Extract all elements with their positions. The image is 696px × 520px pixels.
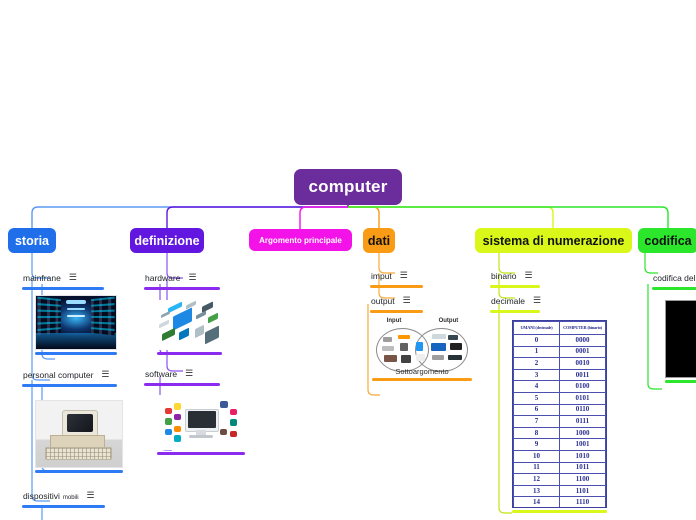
cell-binary: 1000 (560, 427, 606, 439)
topic-decimale[interactable]: decimale ☰ (490, 291, 542, 313)
image-underline (35, 352, 117, 355)
cell-binary: 0100 (560, 381, 606, 393)
hamburger-icon[interactable]: ☰ (87, 491, 95, 500)
cell-binary: 0000 (560, 335, 606, 347)
cell-decimal: 5 (514, 392, 560, 404)
image-card-software[interactable] (157, 395, 245, 455)
cell-decimal: 11 (514, 462, 560, 474)
venn-right-label: Output (439, 318, 459, 324)
topic-personal-computer-row[interactable]: personal computer ☰ (22, 370, 110, 382)
ceiling-light (66, 300, 85, 304)
branch-label-dati: dati (368, 234, 390, 248)
topic-codifica-del-label: codifica del (653, 273, 696, 283)
hamburger-icon[interactable]: ☰ (400, 271, 408, 280)
topic-underline (144, 287, 220, 290)
branch-node-sistema-di-numerazione[interactable]: sistema di numerazione (475, 228, 632, 253)
cell-binary: 1010 (560, 450, 606, 462)
table-row: 00000 (514, 335, 606, 347)
cell-binary: 0101 (560, 392, 606, 404)
input-output-venn-diagram[interactable]: Input Output Sottoargomento (372, 316, 472, 378)
image-underline (35, 470, 123, 473)
black-image-placeholder[interactable] (665, 300, 696, 378)
branch-label-codifica: codifica (644, 234, 691, 248)
table-row: 10001 (514, 346, 606, 358)
hamburger-icon[interactable]: ☰ (403, 296, 411, 305)
hamburger-icon[interactable]: ☰ (69, 273, 77, 282)
topic-personal-computer-label: personal computer (23, 370, 93, 380)
topic-output[interactable]: output ☰ (370, 291, 423, 313)
table-body: 0000010001200103001140100501016011070111… (514, 335, 606, 509)
topic-underline (490, 310, 540, 313)
topic-codifica-del[interactable]: codifica del ☰ (652, 268, 696, 290)
topic-binario-row[interactable]: binario ☰ (490, 271, 534, 283)
topic-software-row[interactable]: software ☰ (144, 369, 194, 381)
mindmap-canvas[interactable]: computer storia definizione Argomento pr… (0, 0, 696, 520)
topic-dispositivi-mobili-row[interactable]: dispositivi mobili ☰ (22, 491, 96, 503)
table-row: 91001 (514, 439, 606, 451)
cell-binary: 0001 (560, 346, 606, 358)
root-node-label: computer (308, 177, 387, 197)
venn-left-label: Input (387, 318, 402, 324)
image-underline (372, 378, 472, 381)
image-caption-sottoargomento: Sottoargomento (373, 367, 471, 376)
table-row: 141110 (514, 497, 606, 508)
branch-node-definizione[interactable]: definizione (130, 228, 204, 253)
cell-binary: 0110 (560, 404, 606, 416)
desktop-computer-with-app-icons-illustration[interactable] (157, 395, 245, 450)
image-underline (157, 452, 245, 455)
table-row: 30011 (514, 369, 606, 381)
cell-decimal: 10 (514, 450, 560, 462)
table-header-binario: COMPUTER (binario) (560, 322, 606, 335)
cell-binary: 1011 (560, 462, 606, 474)
table-row: 131101 (514, 485, 606, 497)
table-row: 81000 (514, 427, 606, 439)
topic-mainfrane[interactable]: mainfrane ☰ (22, 268, 104, 290)
topic-dispositivi-mobili[interactable]: dispositivi mobili ☰ (22, 486, 105, 508)
topic-imput[interactable]: imput ☰ (370, 266, 423, 288)
topic-underline (370, 285, 423, 288)
table-row: 101010 (514, 450, 606, 462)
branch-label-sistema-di-numerazione: sistema di numerazione (483, 234, 625, 248)
topic-hardware-label: hardware (145, 273, 180, 283)
cell-decimal: 4 (514, 381, 560, 393)
cell-binary: 1110 (560, 497, 606, 508)
hamburger-icon[interactable]: ☰ (525, 271, 533, 280)
table-row: 50101 (514, 392, 606, 404)
cell-decimal: 9 (514, 439, 560, 451)
table-row: 20010 (514, 358, 606, 370)
topic-output-row[interactable]: output ☰ (370, 296, 412, 308)
branch-node-codifica[interactable]: codifica (638, 228, 696, 253)
topic-decimale-label: decimale (491, 296, 525, 306)
topic-imput-label: imput (371, 271, 392, 281)
topic-underline (22, 287, 104, 290)
image-underline (512, 510, 607, 513)
cell-binary: 0010 (560, 358, 606, 370)
monitor-stand (196, 430, 206, 435)
topic-underline (22, 505, 105, 508)
table-row: 60110 (514, 404, 606, 416)
floor-reflection (36, 333, 116, 349)
table-row: 111011 (514, 462, 606, 474)
cell-decimal: 12 (514, 474, 560, 486)
topic-dispositivi-label: dispositivi (23, 491, 60, 501)
topic-dispositivi-sublabel: mobili (63, 495, 79, 501)
topic-imput-row[interactable]: imput ☰ (370, 271, 409, 283)
topic-codifica-del-row[interactable]: codifica del ☰ (652, 273, 696, 285)
image-underline (665, 380, 696, 383)
cell-decimal: 6 (514, 404, 560, 416)
topic-software[interactable]: software ☰ (144, 364, 220, 386)
topic-hardware[interactable]: hardware ☰ (144, 268, 220, 290)
server-room-photo[interactable] (35, 295, 117, 350)
cell-decimal: 3 (514, 369, 560, 381)
monitor-screen (188, 411, 217, 428)
topic-mainfrane-label: mainfrane (23, 273, 61, 283)
cell-binary: 1001 (560, 439, 606, 451)
cell-decimal: 7 (514, 416, 560, 428)
cell-decimal: 1 (514, 346, 560, 358)
topic-underline (652, 287, 696, 290)
vintage-personal-computer-photo[interactable] (35, 400, 123, 468)
topic-personal-computer[interactable]: personal computer ☰ (22, 365, 117, 387)
cell-decimal: 2 (514, 358, 560, 370)
table-header-decimale: UMANI (decimale) (514, 322, 560, 335)
image-underline (157, 352, 222, 355)
image-card-binary-table[interactable]: UMANI (decimale) COMPUTER (binario) 0000… (512, 320, 607, 513)
topic-binario-label: binario (491, 271, 517, 281)
branch-node-argomento-principale[interactable]: Argomento principale (249, 229, 352, 251)
branch-node-storia[interactable]: storia (8, 228, 56, 253)
hamburger-icon[interactable]: ☰ (533, 296, 541, 305)
cell-binary: 0111 (560, 416, 606, 428)
branch-label-argomento-principale: Argomento principale (259, 236, 342, 245)
keyboard (45, 447, 112, 460)
topic-underline (370, 310, 423, 313)
cell-binary: 1101 (560, 485, 606, 497)
topic-underline (22, 384, 117, 387)
topic-hardware-row[interactable]: hardware ☰ (144, 273, 198, 285)
branch-label-definizione: definizione (134, 234, 199, 248)
table-header-row: UMANI (decimale) COMPUTER (binario) (514, 322, 606, 335)
cell-decimal: 0 (514, 335, 560, 347)
topic-mainfrane-row[interactable]: mainfrane ☰ (22, 273, 78, 285)
cell-decimal: 14 (514, 497, 560, 508)
binary-table: UMANI (decimale) COMPUTER (binario) 0000… (513, 321, 606, 508)
cell-decimal: 13 (514, 485, 560, 497)
topic-underline (144, 383, 220, 386)
image-card-hardware[interactable] (157, 300, 222, 355)
decimal-binary-conversion-table[interactable]: UMANI (decimale) COMPUTER (binario) 0000… (512, 320, 607, 508)
hamburger-icon[interactable]: ☰ (185, 369, 193, 378)
desktop-monitor (185, 409, 220, 432)
topic-binario[interactable]: binario ☰ (490, 266, 540, 288)
cell-binary: 1100 (560, 474, 606, 486)
image-card-input-output[interactable]: Input Output Sottoargomento (372, 316, 472, 381)
image-card-server-room[interactable] (35, 295, 117, 355)
topic-software-label: software (145, 369, 177, 379)
topic-output-label: output (371, 296, 395, 306)
cell-binary: 0011 (560, 369, 606, 381)
image-card-codifica[interactable] (665, 300, 696, 383)
branch-label-storia: storia (15, 234, 49, 248)
image-card-personal-computer[interactable] (35, 400, 123, 473)
hamburger-icon[interactable]: ☰ (101, 370, 109, 379)
root-node-computer[interactable]: computer (294, 169, 402, 205)
topic-decimale-row[interactable]: decimale ☰ (490, 296, 542, 308)
table-row: 121100 (514, 474, 606, 486)
branch-node-dati[interactable]: dati (363, 228, 395, 253)
monitor-screen (67, 414, 93, 431)
table-row: 40100 (514, 381, 606, 393)
isometric-hardware-components-illustration[interactable] (157, 300, 222, 350)
hamburger-icon[interactable]: ☰ (188, 273, 196, 282)
monitor-foot (189, 435, 213, 438)
table-row: 70111 (514, 416, 606, 428)
cell-decimal: 8 (514, 427, 560, 439)
topic-underline (490, 285, 540, 288)
